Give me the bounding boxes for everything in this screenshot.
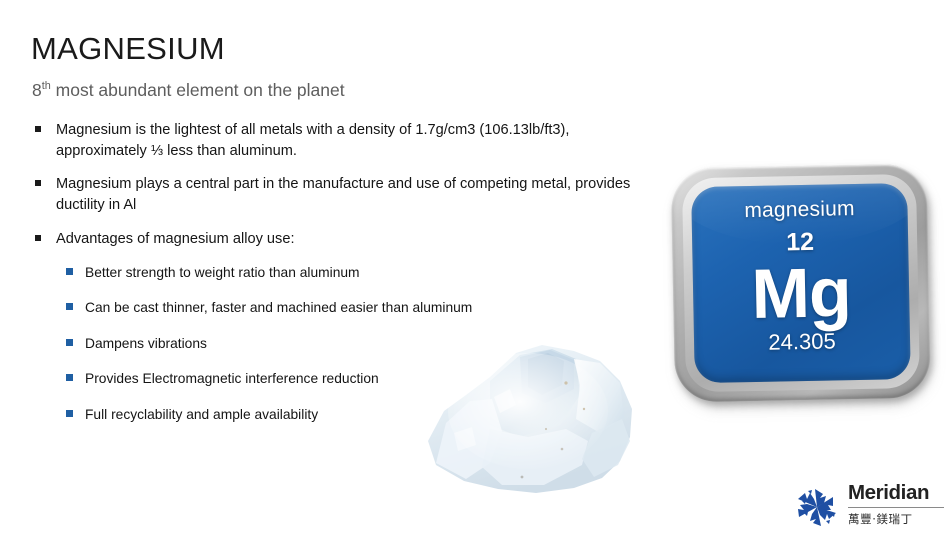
bullet-item: Magnesium is the lightest of all metals … [32, 120, 657, 161]
bullet-text: Advantages of magnesium alloy use: [56, 231, 295, 247]
bullet-square-icon [35, 235, 41, 241]
element-atomic-weight: 24.305 [768, 329, 836, 356]
logo-wordmark: Meridian 萬豐·鎂瑞丁 [848, 482, 946, 527]
sub-bullet-square-icon [66, 339, 73, 346]
element-tile-face: magnesium 12 Mg 24.305 [691, 183, 911, 383]
bullet-text: Magnesium is the lightest of all metals … [56, 122, 569, 159]
bullet-square-icon [35, 180, 41, 186]
page-title: MAGNESIUM [31, 32, 225, 66]
sub-bullet-item: Can be cast thinner, faster and machined… [63, 299, 657, 318]
logo-divider [848, 507, 944, 508]
element-tile-content: magnesium 12 Mg 24.305 [691, 183, 911, 383]
bullet-item: Advantages of magnesium alloy use: [32, 229, 657, 250]
element-symbol: Mg [751, 257, 851, 330]
sub-bullet-square-icon [66, 268, 73, 275]
logo-company-name: Meridian [848, 482, 946, 505]
bullet-square-icon [35, 126, 41, 132]
sub-bullet-text: Dampens vibrations [85, 336, 207, 351]
page-subtitle: 8th most abundant element on the planet [32, 80, 345, 101]
mineral-rock-image [424, 337, 648, 499]
subtitle-text: most abundant element on the planet [51, 80, 345, 100]
sub-bullet-text: Full recyclability and ample availabilit… [85, 407, 318, 422]
subtitle-ordinal-number: 8 [32, 80, 42, 100]
sub-bullet-square-icon [66, 374, 73, 381]
sub-bullet-square-icon [66, 410, 73, 417]
bullet-text: Magnesium plays a central part in the ma… [56, 176, 630, 213]
sub-bullet-text: Provides Electromagnetic interference re… [85, 371, 379, 386]
element-tile-frame: magnesium 12 Mg 24.305 [671, 164, 931, 403]
logo-chinese-name: 萬豐·鎂瑞丁 [848, 511, 946, 527]
element-tile: magnesium 12 Mg 24.305 [671, 163, 940, 408]
sub-bullet-text: Can be cast thinner, faster and machined… [85, 300, 472, 315]
bullet-item: Magnesium plays a central part in the ma… [32, 174, 657, 215]
subtitle-ordinal-suffix: th [42, 80, 51, 92]
meridian-pinwheel-icon [793, 483, 841, 531]
sub-bullet-square-icon [66, 303, 73, 310]
presentation-slide: MAGNESIUM 8th most abundant element on t… [0, 0, 950, 535]
sub-bullet-item: Better strength to weight ratio than alu… [63, 264, 657, 283]
sub-bullet-text: Better strength to weight ratio than alu… [85, 265, 360, 280]
element-name: magnesium [744, 197, 855, 223]
company-logo: Meridian 萬豐·鎂瑞丁 [793, 481, 945, 533]
